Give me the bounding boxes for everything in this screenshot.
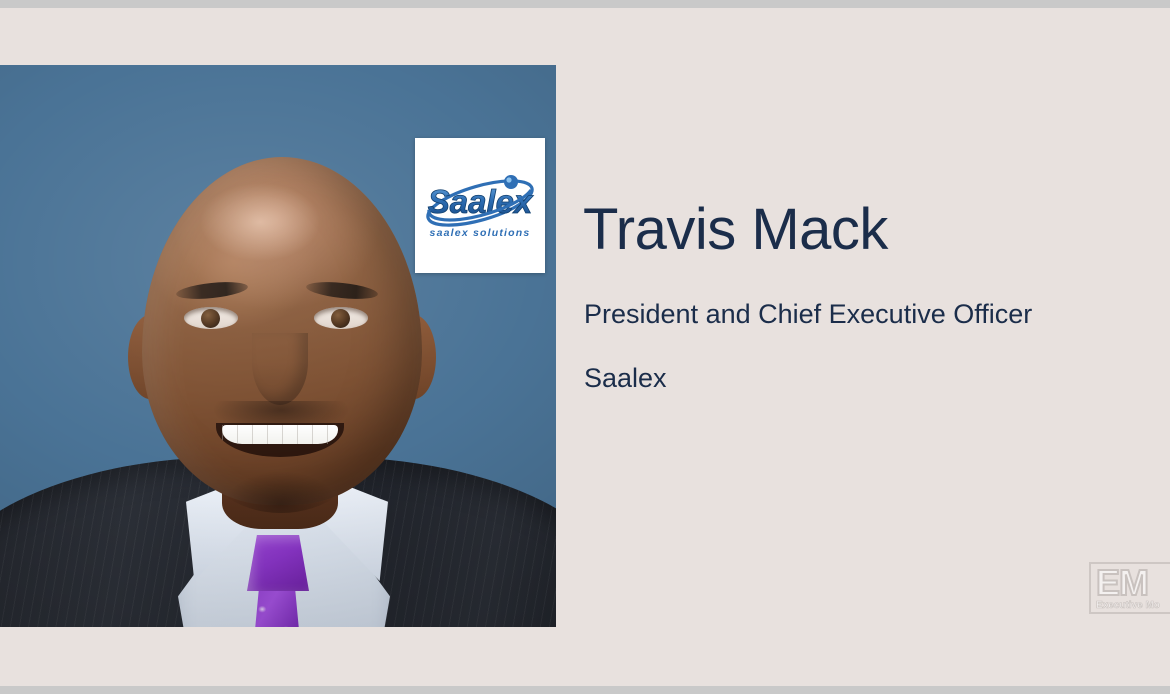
watermark-frame: EM Executive Mo [1089,562,1170,614]
profile-photo: Saalex saalex solutions [0,65,556,627]
profile-company: Saalex [584,362,667,394]
profile-name: Travis Mack [583,198,888,263]
executive-profile-card: Saalex saalex solutions Travis Mack Pres… [0,0,1170,694]
executive-mosaic-watermark: EM Executive Mo [1089,562,1170,614]
watermark-initials: EM [1096,565,1148,601]
svg-text:saalex solutions: saalex solutions [430,227,531,239]
watermark-subtext: Executive Mo [1096,600,1160,611]
top-chrome-bar [0,0,1170,8]
saalex-logo: Saalex saalex solutions [415,138,545,273]
profile-job-title: President and Chief Executive Officer [584,298,1032,330]
saalex-logo-icon: Saalex saalex solutions [419,163,541,249]
bottom-chrome-bar [0,686,1170,694]
